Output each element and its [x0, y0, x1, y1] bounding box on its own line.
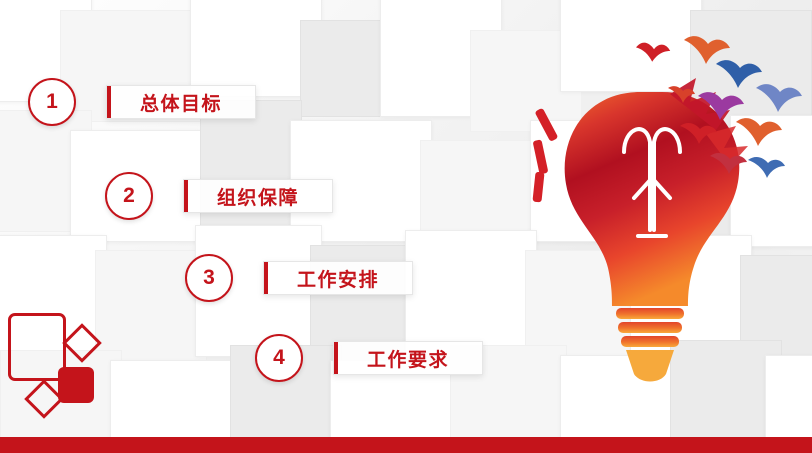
diamond-icon [62, 323, 102, 363]
agenda-label-plate[interactable]: 工作安排 [263, 261, 413, 295]
idea-rays-icon [532, 108, 558, 203]
agenda-item-4[interactable]: 4 工作要求 [255, 334, 483, 382]
agenda-item-label: 工作要求 [367, 345, 449, 372]
agenda-item-label: 工作安排 [297, 265, 379, 292]
agenda-number-badge: 3 [185, 254, 233, 302]
bottom-accent-bar [0, 437, 812, 453]
agenda-label-plate[interactable]: 工作要求 [333, 341, 483, 375]
agenda-label-plate[interactable]: 总体目标 [106, 85, 256, 119]
lightbulb-artwork [520, 30, 810, 410]
agenda-item-1[interactable]: 1 总体目标 [28, 78, 256, 126]
agenda-item-3[interactable]: 3 工作安排 [185, 254, 413, 302]
agenda-number-badge: 2 [105, 172, 153, 220]
geometric-decoration [0, 307, 140, 437]
agenda-number-badge: 4 [255, 334, 303, 382]
agenda-label-plate[interactable]: 组织保障 [183, 179, 333, 213]
agenda-item-label: 总体目标 [140, 89, 222, 116]
agenda-item-label: 组织保障 [217, 183, 299, 210]
agenda-number-badge: 1 [28, 78, 76, 126]
agenda-item-2[interactable]: 2 组织保障 [105, 172, 333, 220]
slide-canvas: 1 总体目标 2 组织保障 3 工作安排 4 工作要求 [0, 0, 812, 453]
bulb-base-icon [616, 308, 684, 382]
